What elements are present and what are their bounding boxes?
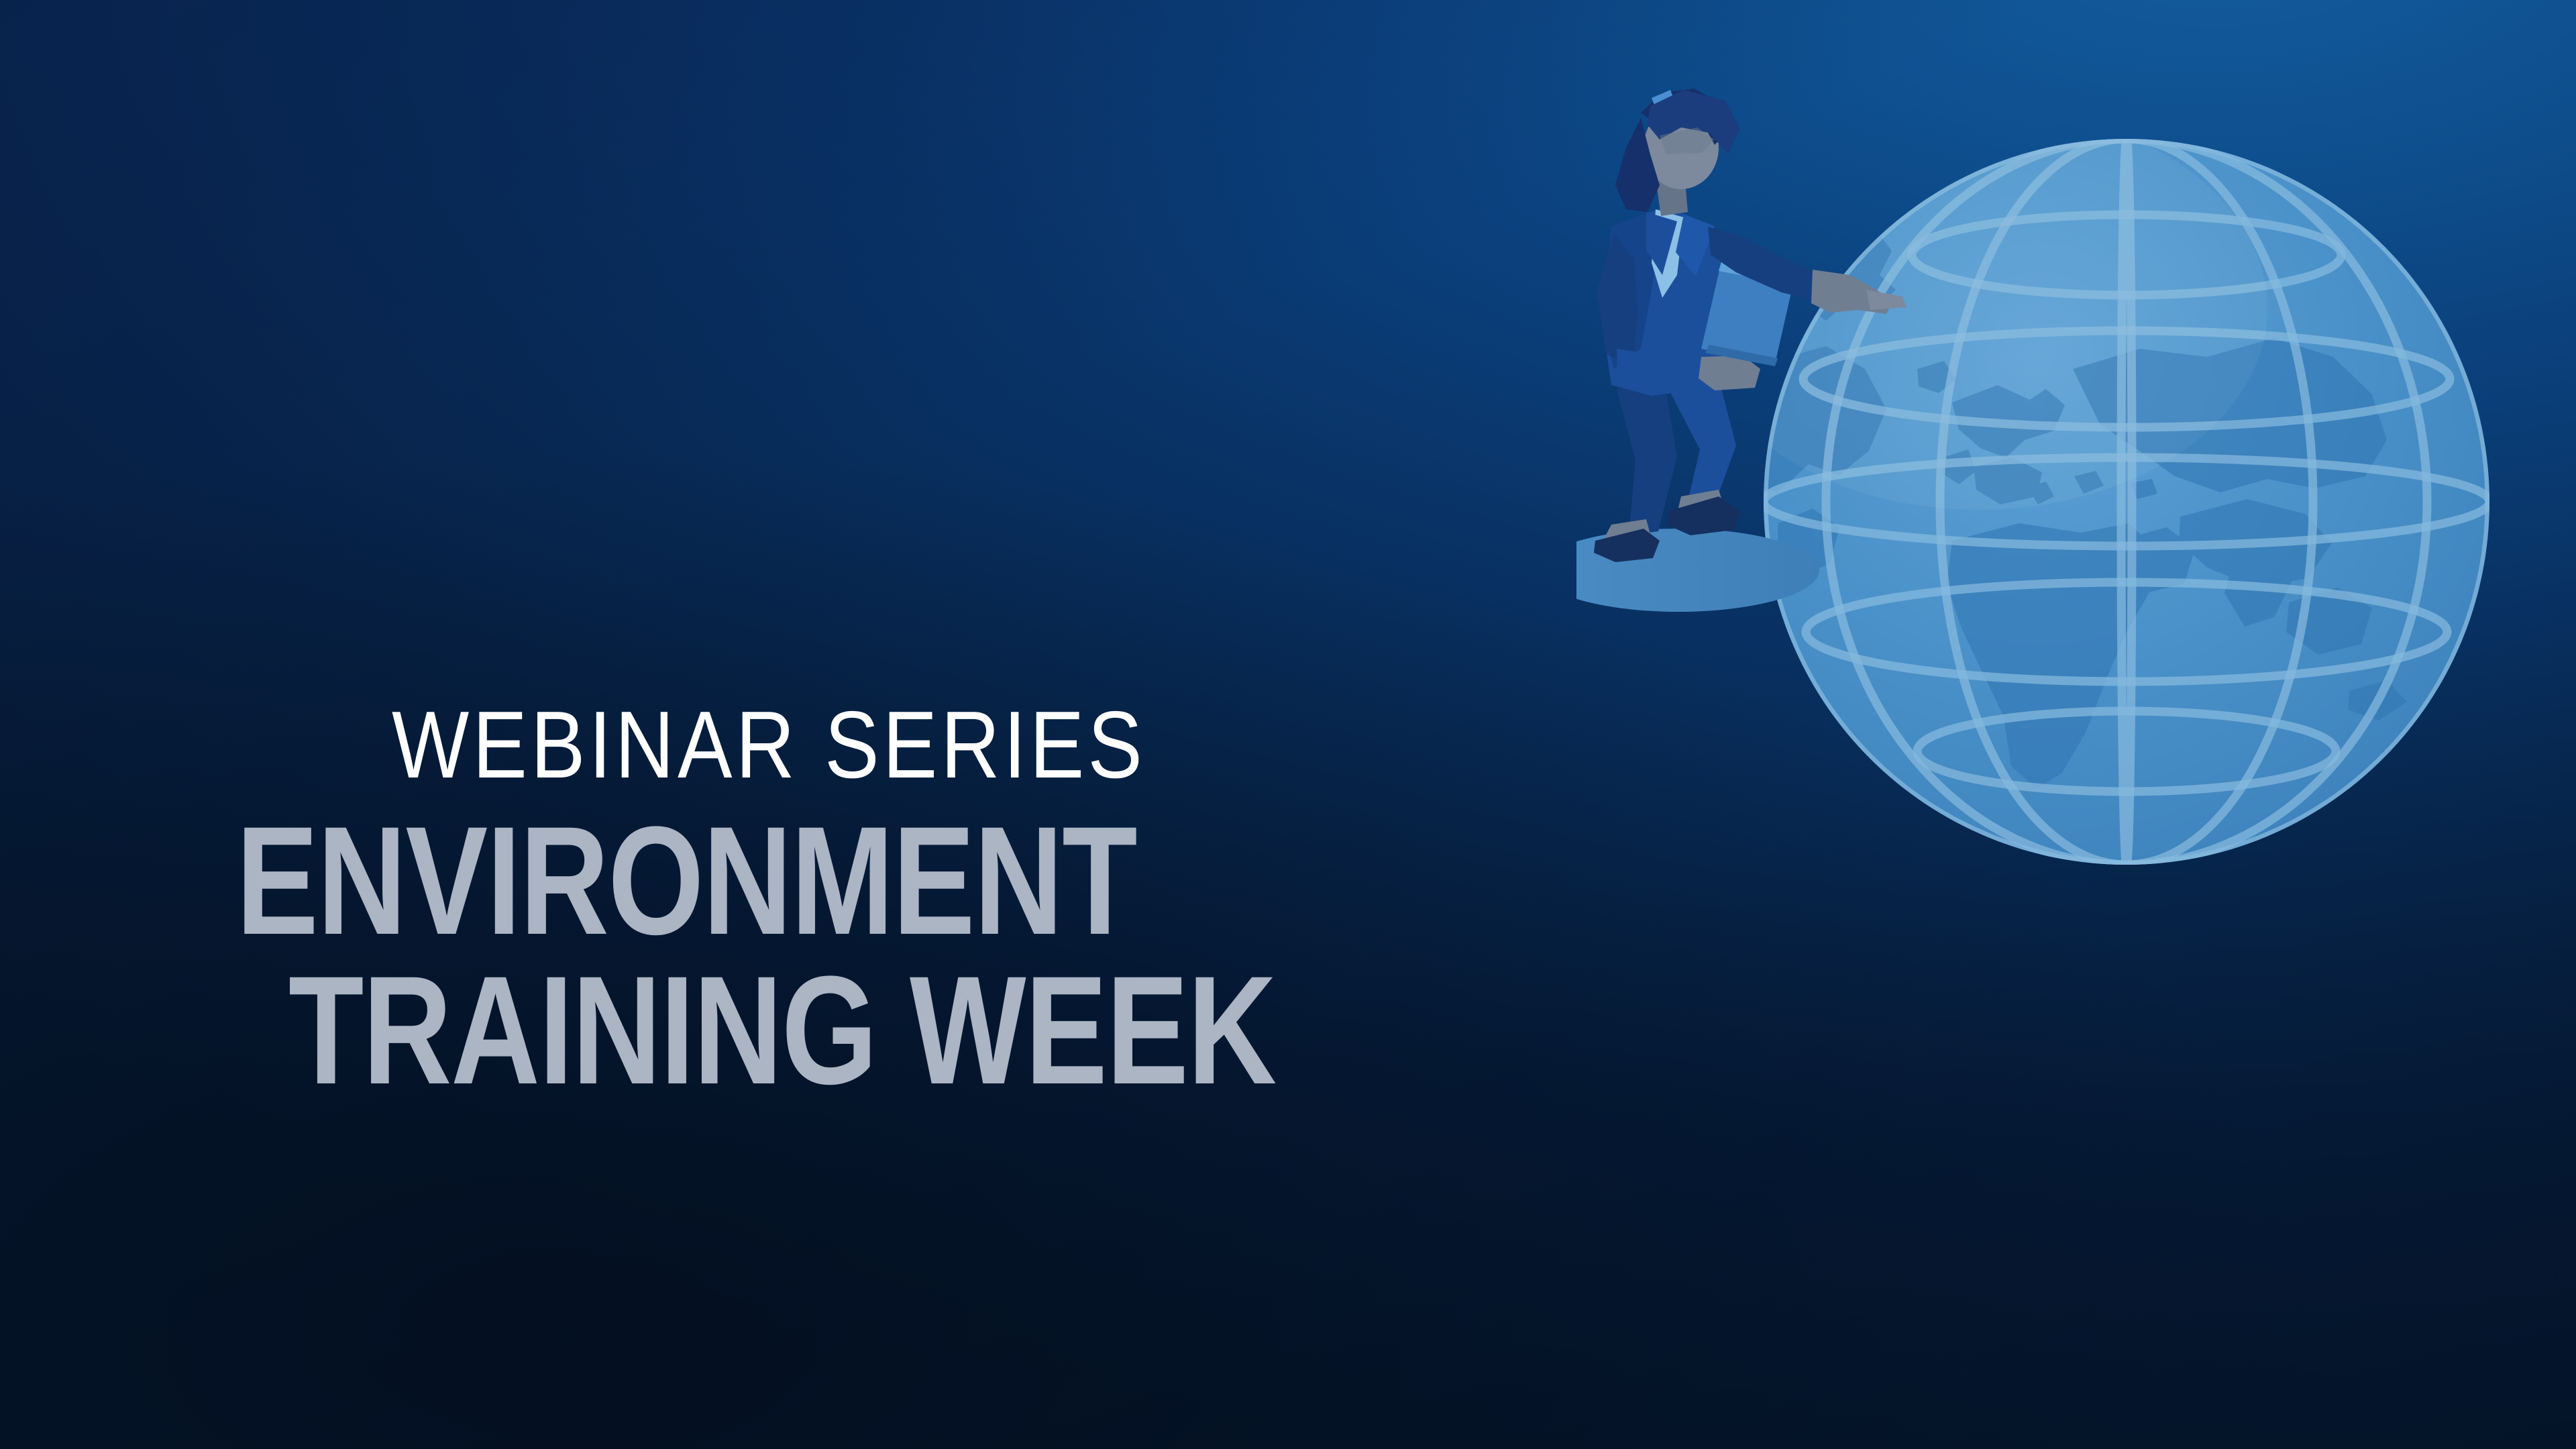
page-title-line-2: TRAINING WEEK xyxy=(288,957,1374,1104)
eyebrow-label: WEBINAR SERIES xyxy=(392,698,1469,793)
globe-and-person-illustration xyxy=(1576,54,2529,926)
banner-text-block: WEBINAR SERIES ENVIRONMENT TRAINING WEEK xyxy=(236,698,1645,1104)
webinar-banner: WEBINAR SERIES ENVIRONMENT TRAINING WEEK xyxy=(0,0,2576,1449)
page-title-line-1: ENVIRONMENT xyxy=(236,808,1363,955)
globe-icon xyxy=(1652,107,2489,865)
